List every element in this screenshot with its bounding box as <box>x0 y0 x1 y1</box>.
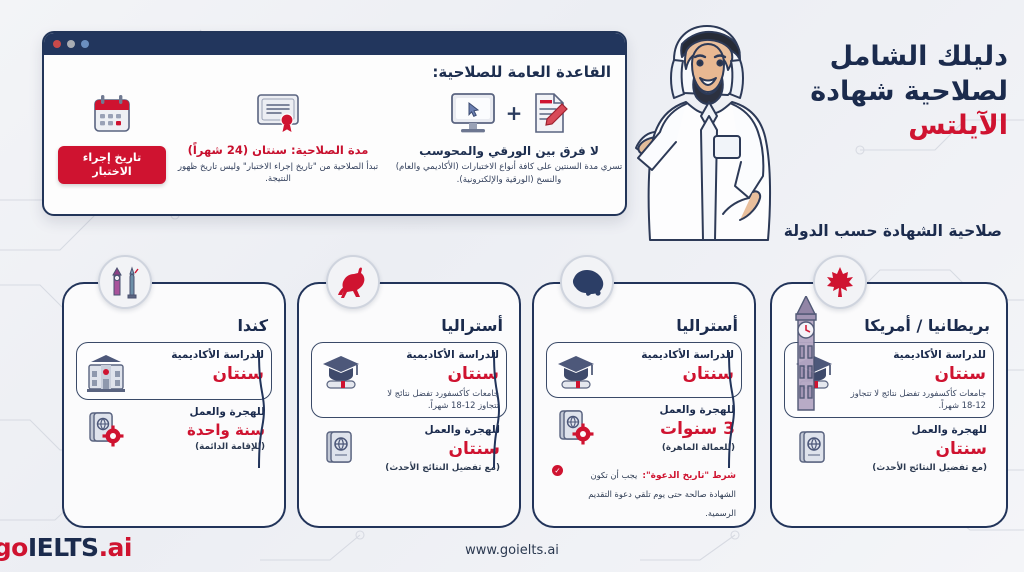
university-building-icon <box>85 353 127 393</box>
immigration-block: للهجرة والعمل 3 سنوات (للعمالة الماهرة) <box>546 398 742 461</box>
flag-bubble-canada <box>813 255 867 309</box>
academic-note: جامعات كأكسفورد تفضل نتائج لا تتجاوز 12-… <box>843 387 986 411</box>
big-ben-decoration-icon <box>778 296 838 416</box>
academic-note: جامعات كأكسفورد تفضل نتائج لا تتجاوز 12-… <box>370 387 499 411</box>
computer-monitor-icon <box>448 90 498 136</box>
passport-icon-wrap <box>318 424 362 466</box>
card-title: أستراليا <box>311 316 503 335</box>
immigration-note: (للإقامة الدائمة) <box>134 441 265 454</box>
certificate-icon <box>254 91 302 135</box>
immigration-text: للهجرة والعمل سنتان (مع تفضيل النتائج ال… <box>369 424 500 475</box>
check-circle-icon: ✓ <box>552 465 563 476</box>
certificate-icon-row <box>172 85 384 141</box>
immigration-block: للهجرة والعمل سنة واحدة (للإقامة الدائمة… <box>76 400 272 460</box>
validity-heading: مدة الصلاحية: سنتان (24 شهراً) <box>172 143 384 159</box>
country-card-canada[interactable]: كندا للدراسة الأكاديمية سنتان <box>62 282 286 528</box>
man-pointing-illustration <box>612 18 802 246</box>
academic-value: سنتان <box>605 364 734 385</box>
validity-note: تبدأ الصلاحية من "تاريخ إجراء الاختبار" … <box>172 161 384 187</box>
academic-text: للدراسة الأكاديمية سنتان جامعات كأكسفورد… <box>370 349 499 411</box>
immigration-note: (مع تفضيل النتائج الأحدث) <box>842 462 987 475</box>
immigration-value: 3 سنوات <box>604 419 735 440</box>
card-title: أستراليا <box>546 316 738 335</box>
general-rule-panel: القاعدة العامة للصلاحية: <box>42 31 627 216</box>
country-card-uk-usa[interactable]: بريطانيا / أمريكا للدراسة الأكاديمية سنت… <box>770 282 1008 528</box>
immigration-text: للهجرة والعمل سنة واحدة (للإقامة الدائمة… <box>134 406 265 454</box>
general-rule-body: القاعدة العامة للصلاحية: <box>44 55 625 214</box>
card-title: كندا <box>76 316 268 335</box>
immigration-note: (مع تفضيل النتائج الأحدث) <box>369 462 500 475</box>
calendar-icon-row <box>58 87 166 143</box>
academic-value: سنتان <box>135 364 264 385</box>
format-heading: لا فرق بين الورقي والمحوسب <box>390 143 627 159</box>
format-note: تسري مدة السنتين على كافة أنواع الاختبار… <box>390 161 627 187</box>
academic-value: سنتان <box>370 364 499 385</box>
immigration-label: للهجرة والعمل <box>604 404 735 418</box>
canada-maple-leaf-icon <box>824 265 856 299</box>
browser-title-bar <box>44 33 625 55</box>
passport-gear-icon-wrap <box>553 404 597 448</box>
paper-pencil-icon <box>530 90 570 136</box>
passport-icon <box>321 428 359 466</box>
graduation-cap-diploma-icon <box>321 353 361 391</box>
passport-gear-icon <box>555 408 595 448</box>
flag-bubble-australia-map <box>560 255 614 309</box>
immigration-value: سنة واحدة <box>134 421 265 440</box>
graduation-icon-wrap <box>319 349 363 391</box>
passport-gear-icon-wrap <box>83 406 127 450</box>
flag-bubble-kangaroo <box>326 255 380 309</box>
academic-label: للدراسة الأكاديمية <box>605 349 734 363</box>
academic-block: للدراسة الأكاديمية سنتان جامعات كأكسفورد… <box>311 342 507 418</box>
graduation-cap-diploma-icon <box>556 353 596 391</box>
section-title: صلاحية الشهادة حسب الدولة <box>784 222 1002 240</box>
academic-value: سنتان <box>843 364 986 385</box>
academic-label: للدراسة الأكاديمية <box>135 349 264 363</box>
condition-note: ✓ شرط "تاريخ الدعوة": يجب أن تكون الشهاد… <box>546 461 742 520</box>
calendar-icon <box>89 92 135 138</box>
footer: goIELTS.ai www.goielts.ai <box>0 528 1024 572</box>
website-url[interactable]: www.goielts.ai <box>0 543 1024 558</box>
immigration-label: للهجرة والعمل <box>134 406 265 420</box>
window-maximize-dot[interactable] <box>81 40 89 48</box>
window-minimize-dot[interactable] <box>67 40 75 48</box>
academic-label: للدراسة الأكاديمية <box>370 349 499 363</box>
immigration-block: للهجرة والعمل سنتان (مع تفضيل النتائج ال… <box>311 418 507 481</box>
kangaroo-icon <box>336 266 370 298</box>
australia-map-icon <box>568 266 606 298</box>
test-date-column: تاريخ إجراء الاختبار <box>58 85 166 184</box>
academic-block: للدراسة الأكاديمية سنتان <box>546 342 742 398</box>
test-date-badge: تاريخ إجراء الاختبار <box>58 146 166 184</box>
validity-duration-column: مدة الصلاحية: سنتان (24 شهراً) تبدأ الصل… <box>172 85 384 186</box>
format-column: + لا فرق بين الورقي والمحوسب تسري مدة ال… <box>390 85 627 187</box>
uk-usa-landmarks-icon <box>106 263 144 301</box>
country-cards-container: بريطانيا / أمريكا للدراسة الأكاديمية سنت… <box>0 282 1024 530</box>
immigration-text: للهجرة والعمل سنتان (مع تفضيل النتائج ال… <box>842 424 987 475</box>
general-rule-title: القاعدة العامة للصلاحية: <box>58 63 611 81</box>
condition-text-wrap: شرط "تاريخ الدعوة": يجب أن تكون الشهادة … <box>567 463 736 520</box>
academic-text: للدراسة الأكاديمية سنتان <box>135 349 264 385</box>
immigration-label: للهجرة والعمل <box>842 424 987 438</box>
format-icon-row: + <box>390 85 627 141</box>
immigration-text: للهجرة والعمل 3 سنوات (للعمالة الماهرة) <box>604 404 735 455</box>
immigration-value: سنتان <box>842 439 987 460</box>
academic-text: للدراسة الأكاديمية سنتان <box>605 349 734 385</box>
passport-icon <box>794 428 832 466</box>
immigration-note: (للعمالة الماهرة) <box>604 442 735 455</box>
graduation-icon-wrap <box>554 349 598 391</box>
condition-heading: شرط "تاريخ الدعوة": <box>642 471 736 481</box>
immigration-value: سنتان <box>369 439 500 460</box>
immigration-block: للهجرة والعمل سنتان (مع تفضيل النتائج ال… <box>784 418 994 481</box>
academic-label: للدراسة الأكاديمية <box>843 349 986 363</box>
passport-icon-wrap <box>791 424 835 466</box>
country-card-australia-map[interactable]: أستراليا للدراسة الأكاديمية سنتان جامعات… <box>297 282 521 528</box>
flag-bubble-uk-usa <box>98 255 152 309</box>
academic-block: للدراسة الأكاديمية سنتان <box>76 342 272 400</box>
country-card-australia-kangaroo[interactable]: أستراليا للدراسة الأكاديمية سنتان <box>532 282 756 528</box>
immigration-label: للهجرة والعمل <box>369 424 500 438</box>
university-icon-wrap <box>84 349 128 393</box>
plus-symbol: + <box>506 101 523 125</box>
window-close-dot[interactable] <box>53 40 61 48</box>
academic-text: للدراسة الأكاديمية سنتان جامعات كأكسفورد… <box>843 349 986 411</box>
passport-gear-icon <box>85 410 125 450</box>
